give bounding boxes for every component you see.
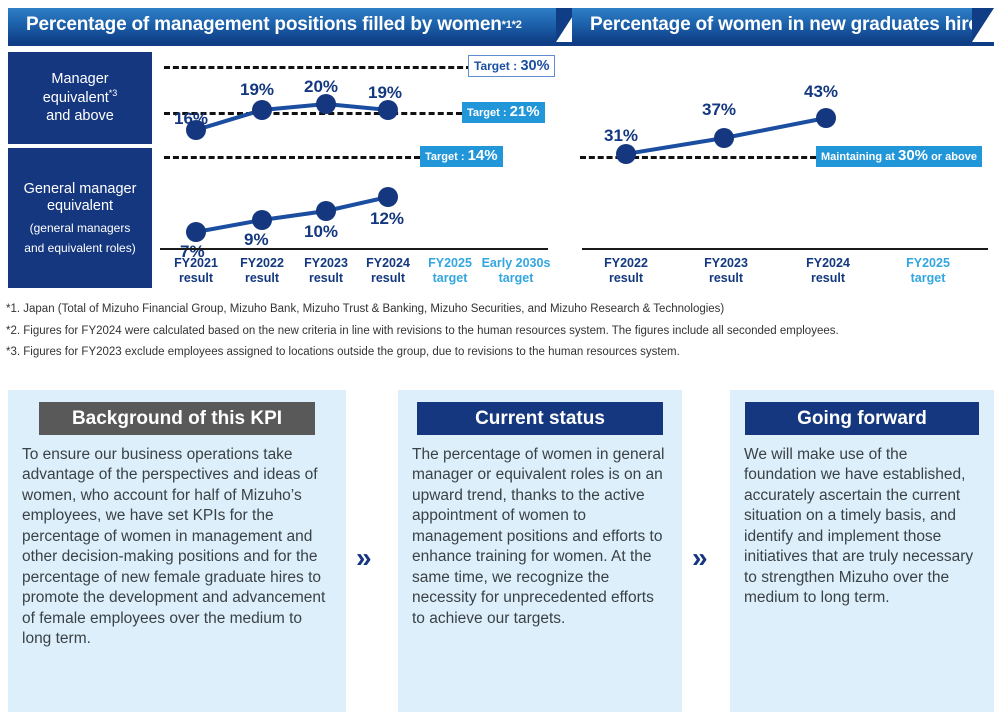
- right-axis-label-1: FY2023 result: [688, 256, 764, 286]
- category-manager-line3: and above: [46, 108, 114, 126]
- right-chart: Maintaining at 30% or above 31% 37% 43% …: [578, 52, 994, 282]
- new-graduates-value-label-0: 31%: [604, 126, 638, 146]
- left-axis-label-1-top: FY2022: [240, 256, 284, 270]
- footnote-1: *1. Japan (Total of Mizuho Financial Gro…: [6, 304, 994, 316]
- panel-background-heading: Background of this KPI: [39, 402, 315, 435]
- category-gm-line3: (general managers: [30, 221, 131, 236]
- general-manager-point-1: [252, 210, 272, 230]
- general-manager-point-0: [186, 222, 206, 242]
- right-axis-label-1-bottom: result: [709, 271, 743, 285]
- left-axis-label-4-bottom: target: [433, 271, 468, 285]
- left-axis-label-1-bottom: result: [245, 271, 279, 285]
- left-axis-label-5-top: Early 2030s: [482, 256, 551, 270]
- left-axis-label-0-bottom: result: [179, 271, 213, 285]
- new-graduates-point-1: [714, 128, 734, 148]
- category-gm-line1: General manager: [24, 181, 137, 199]
- footnote-2: *2. Figures for FY2024 were calculated b…: [6, 326, 994, 338]
- panel-background-body: To ensure our business operations take a…: [8, 435, 346, 650]
- manager-equivalent-line: [196, 104, 388, 130]
- right-axis-label-2-top: FY2024: [806, 256, 850, 270]
- category-gm-line2: equivalent: [47, 198, 113, 216]
- left-chart-title: Percentage of management positions fille…: [8, 8, 556, 42]
- general-manager-value-label-2: 10%: [304, 222, 338, 242]
- manager-equivalent-point-2: [316, 94, 336, 114]
- right-axis-label-3: FY2025 target: [890, 256, 966, 286]
- left-axis-label-4-top: FY2025: [428, 256, 472, 270]
- right-banner-tail: [972, 8, 994, 42]
- right-banner-underline: [572, 42, 994, 46]
- general-manager-value-label-3: 12%: [370, 209, 404, 229]
- general-manager-line: [196, 197, 388, 232]
- left-plot-area: Target : 30% Target : 21% Target : 14%: [158, 52, 556, 282]
- right-chart-title: Percentage of women in new graduates hir…: [572, 8, 972, 42]
- right-axis-label-0-top: FY2022: [604, 256, 648, 270]
- left-axis-label-5: Early 2030s target: [474, 256, 558, 286]
- left-chart-title-superscript: *1*2: [502, 19, 522, 31]
- category-manager-equivalent: Manager equivalent*3 and above: [8, 52, 152, 144]
- right-axis-rule: [582, 248, 988, 250]
- kpi-slide: Percentage of management positions fille…: [0, 0, 1000, 720]
- manager-equivalent-series: [158, 52, 556, 288]
- new-graduates-point-0: [616, 144, 636, 164]
- right-axis-label-1-top: FY2023: [704, 256, 748, 270]
- arrow-1-icon: »: [356, 542, 368, 574]
- general-manager-value-label-1: 9%: [244, 230, 269, 250]
- category-manager-line2: equivalent*3: [43, 88, 118, 108]
- panel-current-status-body: The percentage of women in general manag…: [398, 435, 682, 629]
- panel-current-status-heading: Current status: [417, 402, 663, 435]
- category-general-manager-equivalent: General manager equivalent (general mana…: [8, 148, 152, 288]
- right-axis-label-2-bottom: result: [811, 271, 845, 285]
- category-manager-superscript: *3: [109, 88, 118, 98]
- left-axis-rule: [160, 248, 548, 250]
- panel-going-forward-body: We will make use of the foundation we ha…: [730, 435, 994, 609]
- category-manager-line2-text: equivalent: [43, 90, 109, 106]
- left-axis-label-5-bottom: target: [499, 271, 534, 285]
- left-axis-label-3-top: FY2024: [366, 256, 410, 270]
- right-chart-title-text: Percentage of women in new graduates hir…: [590, 14, 990, 36]
- manager-value-label-2: 20%: [304, 77, 338, 97]
- panel-going-forward-heading: Going forward: [745, 402, 979, 435]
- manager-value-label-3: 19%: [368, 83, 402, 103]
- panel-current-status: Current status The percentage of women i…: [398, 390, 682, 712]
- right-axis-label-0-bottom: result: [609, 271, 643, 285]
- new-graduates-value-label-1: 37%: [702, 100, 736, 120]
- general-manager-point-3: [378, 187, 398, 207]
- panel-going-forward: Going forward We will make use of the fo…: [730, 390, 994, 712]
- new-graduates-point-2: [816, 108, 836, 128]
- footnote-3: *3. Figures for FY2023 exclude employees…: [6, 347, 994, 359]
- right-axis-label-3-bottom: target: [911, 271, 946, 285]
- left-axis-label-0: FY2021 result: [158, 256, 234, 286]
- category-manager-line1: Manager: [51, 71, 108, 89]
- category-gm-line4: and equivalent roles): [24, 241, 135, 256]
- arrow-2-icon: »: [692, 542, 704, 574]
- manager-equivalent-point-3: [378, 100, 398, 120]
- left-axis-label-2-bottom: result: [309, 271, 343, 285]
- left-banner-underline: [8, 42, 578, 46]
- left-chart-title-text: Percentage of management positions fille…: [26, 14, 502, 36]
- panel-background-of-this-kpi: Background of this KPI To ensure our bus…: [8, 390, 346, 712]
- new-graduates-value-label-2: 43%: [804, 82, 838, 102]
- general-manager-point-2: [316, 201, 336, 221]
- right-axis-label-3-top: FY2025: [906, 256, 950, 270]
- left-chart: Manager equivalent*3 and above General m…: [8, 52, 556, 282]
- manager-equivalent-point-1: [252, 100, 272, 120]
- left-axis-label-2-top: FY2023: [304, 256, 348, 270]
- footnotes: *1. Japan (Total of Mizuho Financial Gro…: [6, 304, 994, 369]
- manager-value-label-0: 16%: [174, 109, 208, 129]
- left-axis-label-3-bottom: result: [371, 271, 405, 285]
- right-axis-label-2: FY2024 result: [790, 256, 866, 286]
- manager-value-label-1: 19%: [240, 80, 274, 100]
- right-axis-label-0: FY2022 result: [588, 256, 664, 286]
- left-axis-label-0-top: FY2021: [174, 256, 218, 270]
